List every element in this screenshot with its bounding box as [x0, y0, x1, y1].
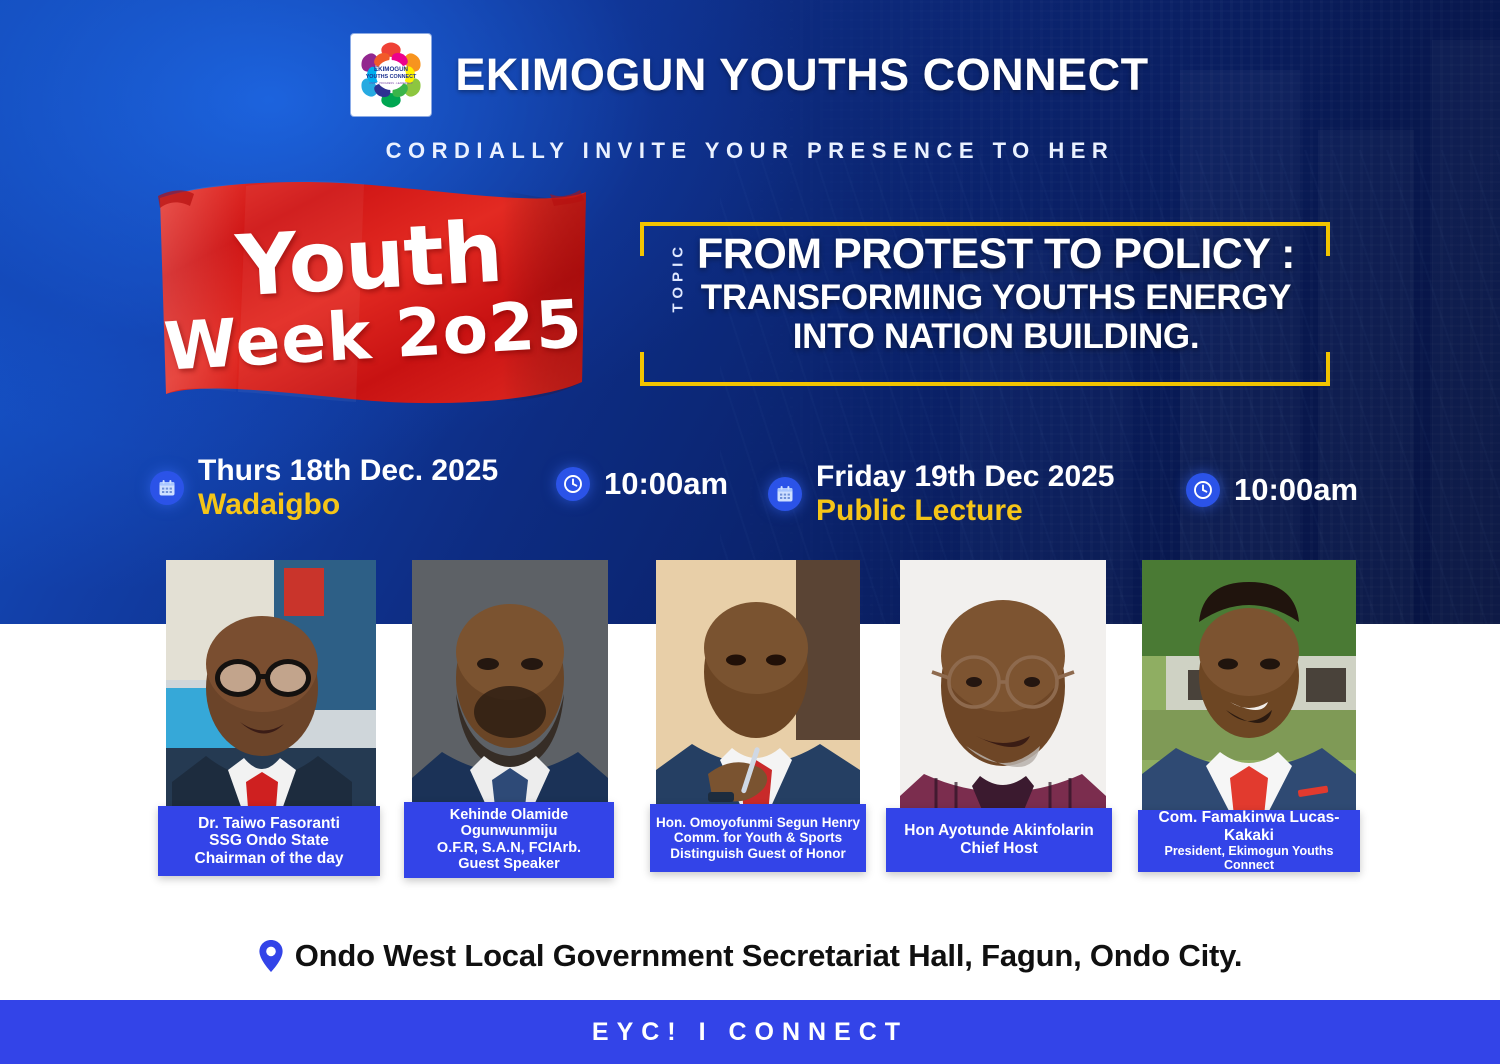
location-pin-icon — [258, 939, 284, 973]
youth-week-banner: Youth Week 2o25 — [150, 176, 592, 414]
footer-bar: EYC! I CONNECT — [0, 1000, 1500, 1064]
clock-glyph — [562, 473, 584, 495]
topic-line-3: INTO NATION BUILDING. — [672, 317, 1320, 356]
organization-logo: EKIMOGUN YOUTHS CONNECT UNITY · PROGRESS… — [351, 34, 431, 116]
topic-line-1: FROM PROTEST TO POLICY : — [672, 232, 1320, 278]
speaker-name: Hon. Omoyofunmi Segun Henry — [656, 815, 860, 830]
frame-corner-bottom-left — [640, 352, 680, 386]
schedule-time-2: 10:00am — [1186, 472, 1358, 508]
speaker-title: Comm. for Youth & Sports — [674, 830, 842, 845]
speaker-title: O.F.R, S.A.N, FCIArb. — [437, 840, 581, 857]
speaker-name: Dr. Taiwo Fasoranti — [198, 815, 340, 832]
flyer-header: EKIMOGUN YOUTHS CONNECT UNITY · PROGRESS… — [0, 34, 1500, 164]
schedule-time-value-1: 10:00am — [604, 466, 728, 502]
schedule-date-2: Friday 19th Dec 2025 — [816, 460, 1115, 494]
topic-frame: TOPIC FROM PROTEST TO POLICY : TRANSFORM… — [640, 222, 1330, 386]
schedule-row: Thurs 18th Dec. 2025 Wadaigbo 10:00am — [0, 448, 1500, 538]
venue-text: Ondo West Local Government Secretariat H… — [295, 938, 1243, 974]
logo-text-line2: YOUTHS CONNECT — [366, 74, 417, 80]
clock-icon — [556, 467, 590, 501]
speakers-row: Dr. Taiwo Fasoranti SSG Ondo State Chair… — [0, 556, 1500, 924]
speaker-role: Chief Host — [960, 840, 1038, 858]
brand-row: EKIMOGUN YOUTHS CONNECT UNITY · PROGRESS… — [0, 34, 1500, 116]
topic-body: FROM PROTEST TO POLICY : TRANSFORMING YO… — [672, 232, 1320, 356]
frame-corner-bottom-right — [1290, 352, 1330, 386]
clock-glyph — [1192, 479, 1214, 501]
connected-hands-logo-icon: EKIMOGUN YOUTHS CONNECT UNITY · PROGRESS… — [355, 38, 427, 112]
schedule-date-1: Thurs 18th Dec. 2025 — [198, 454, 498, 488]
schedule-item-2: Friday 19th Dec 2025 Public Lecture — [768, 460, 1115, 527]
schedule-item-1: Thurs 18th Dec. 2025 Wadaigbo — [150, 454, 498, 521]
calendar-glyph — [775, 484, 795, 504]
schedule-text-2: Friday 19th Dec 2025 Public Lecture — [816, 460, 1115, 527]
speaker-card: Com. Famakinwa Lucas-Kakaki President, E… — [1142, 560, 1360, 914]
clock-icon — [1186, 473, 1220, 507]
speaker-name-plate: Hon. Omoyofunmi Segun Henry Comm. for Yo… — [650, 804, 866, 872]
schedule-time-value-2: 10:00am — [1234, 472, 1358, 508]
schedule-subtitle-2: Public Lecture — [816, 494, 1115, 528]
speaker-card: Hon. Omoyofunmi Segun Henry Comm. for Yo… — [656, 560, 864, 914]
speaker-role: Guest Speaker — [458, 856, 560, 873]
brand-title: EKIMOGUN YOUTHS CONNECT — [455, 49, 1148, 101]
calendar-icon — [768, 477, 802, 511]
event-flyer: EKIMOGUN YOUTHS CONNECT UNITY · PROGRESS… — [0, 0, 1500, 1064]
speaker-name-plate: Dr. Taiwo Fasoranti SSG Ondo State Chair… — [158, 806, 380, 876]
speaker-card: Dr. Taiwo Fasoranti SSG Ondo State Chair… — [166, 560, 380, 914]
logo-text-line3: UNITY · PROGRESS · LEADERSHIP — [370, 81, 414, 85]
speaker-name-plate: Hon Ayotunde Akinfolarin Chief Host — [886, 808, 1112, 872]
speaker-name-plate: Kehinde Olamide Ogunwunmiju O.F.R, S.A.N… — [404, 802, 614, 878]
speaker-role: President, Ekimogun Youths Connect — [1142, 844, 1356, 873]
frame-edge-bottom — [680, 382, 1290, 386]
speaker-name-plate: Com. Famakinwa Lucas-Kakaki President, E… — [1138, 810, 1360, 872]
banner-line-2: Week 2o25 — [162, 291, 584, 380]
speaker-role: Distinguish Guest of Honor — [670, 846, 846, 861]
speaker-title: SSG Ondo State — [209, 832, 329, 850]
venue-row: Ondo West Local Government Secretariat H… — [0, 930, 1500, 982]
topic-line-2: TRANSFORMING YOUTHS ENERGY — [672, 278, 1320, 317]
schedule-text-1: Thurs 18th Dec. 2025 Wadaigbo — [198, 454, 498, 521]
speaker-role: Chairman of the day — [195, 850, 344, 868]
schedule-subtitle-1: Wadaigbo — [198, 488, 498, 522]
logo-text-line1: EKIMOGUN — [374, 66, 409, 73]
speaker-card: Hon Ayotunde Akinfolarin Chief Host — [900, 560, 1110, 914]
speaker-name: Com. Famakinwa Lucas-Kakaki — [1142, 809, 1356, 844]
footer-tagline: EYC! I CONNECT — [592, 1018, 908, 1047]
banner-text: Youth Week 2o25 — [144, 164, 599, 426]
frame-edge-top — [680, 222, 1290, 226]
speaker-card: Kehinde Olamide Ogunwunmiju O.F.R, S.A.N… — [412, 560, 612, 914]
calendar-icon — [150, 471, 184, 505]
invitation-line: CORDIALLY INVITE YOUR PRESENCE TO HER — [0, 138, 1500, 164]
calendar-glyph — [157, 478, 177, 498]
schedule-time-1: 10:00am — [556, 466, 728, 502]
speaker-name: Kehinde Olamide Ogunwunmiju — [408, 807, 610, 839]
speaker-name: Hon Ayotunde Akinfolarin — [904, 822, 1093, 839]
